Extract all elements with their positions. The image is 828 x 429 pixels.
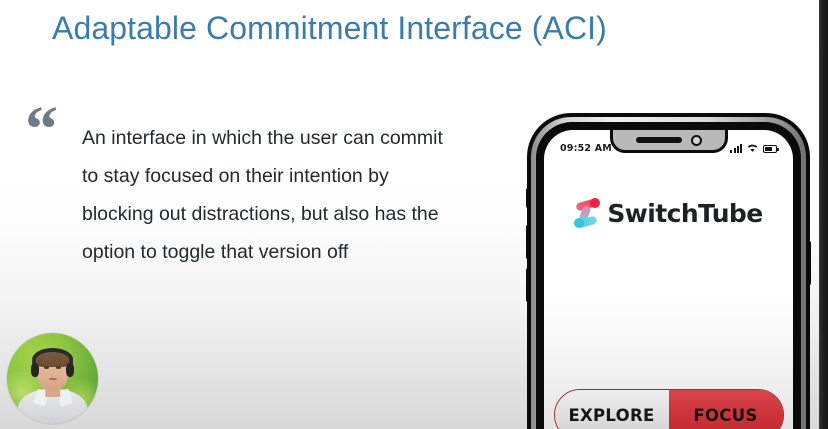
quote-mark-icon: “ [25, 105, 56, 155]
mode-toggle[interactable]: EXPLORE FOCUS [554, 389, 784, 429]
phone-screen: 09:52 AM [544, 130, 793, 429]
status-bar-clock: 09:52 AM [560, 143, 612, 154]
toggle-option-focus[interactable]: FOCUS [669, 390, 783, 429]
presenter-mouth [48, 378, 56, 381]
headphone-earcup [66, 363, 74, 377]
signal-bars-icon [730, 144, 742, 153]
volume-down-button[interactable] [526, 268, 530, 302]
switchtube-logo-icon [574, 198, 600, 228]
logo-top-dot [590, 198, 600, 208]
volume-up-button[interactable] [526, 225, 530, 259]
status-bar-icons [730, 143, 777, 153]
front-camera-icon [691, 135, 702, 146]
silent-switch[interactable] [526, 188, 530, 208]
quote-line: blocking out distractions, but also has … [82, 195, 482, 233]
presentation-slide: Adaptable Commitment Interface (ACI) “ A… [0, 0, 828, 429]
app-name: SwitchTube [607, 199, 762, 228]
screen-edge-bar [819, 0, 828, 429]
phone-notch [610, 130, 728, 153]
wifi-icon [746, 143, 759, 153]
avatar [7, 333, 98, 424]
earpiece-speaker-icon [636, 137, 682, 143]
app-brand-lockup: SwitchTube [544, 198, 793, 228]
phone-mockup: 09:52 AM [527, 113, 810, 429]
quote-line: An interface in which the user can commi… [82, 119, 482, 157]
battery-icon [763, 145, 777, 153]
page-title: Adaptable Commitment Interface (ACI) [52, 10, 607, 47]
power-button[interactable] [807, 241, 811, 285]
quote-text: An interface in which the user can commi… [82, 119, 482, 271]
toggle-option-explore[interactable]: EXPLORE [555, 390, 669, 429]
quote-line: option to toggle that version off [82, 233, 482, 271]
headphone-earcup [31, 363, 39, 377]
quote-line: to stay focused on their intention by [82, 157, 482, 195]
